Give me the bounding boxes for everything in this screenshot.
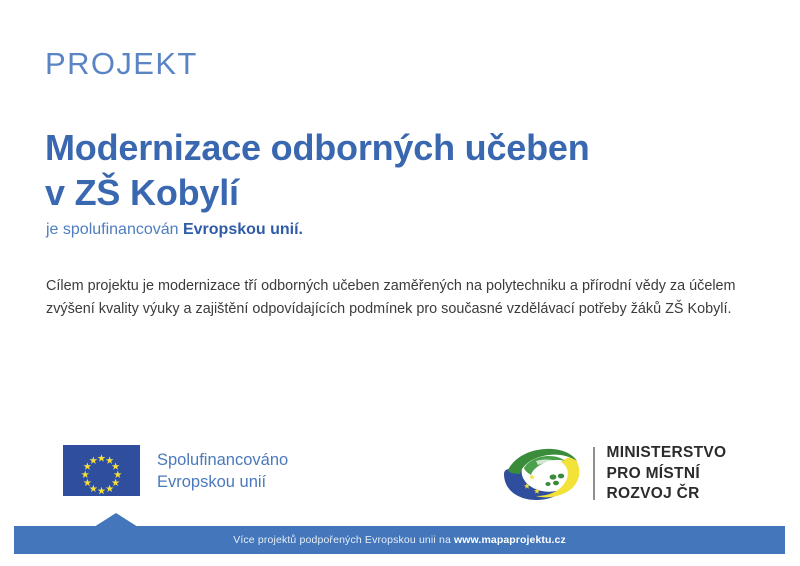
- ministry-logo-lockup: MINISTERSTVO PRO MÍSTNÍ ROZVOJ ČR: [498, 443, 726, 505]
- subtitle: je spolufinancován Evropskou unií.: [46, 219, 303, 241]
- footer-url-link[interactable]: www.mapaprojektu.cz: [454, 534, 566, 546]
- eyebrow-label: PROJEKT: [45, 48, 198, 81]
- page-title: Modernizace odborných učeben v ZŠ Kobylí: [45, 125, 590, 215]
- european-union-flag-icon: [63, 445, 140, 496]
- footer-band: Více projektů podpořených Evropskou unii…: [14, 513, 785, 555]
- ministry-logo-caption: MINISTERSTVO PRO MÍSTNÍ ROZVOJ ČR: [607, 443, 727, 505]
- subtitle-prefix: je spolufinancován: [46, 221, 183, 238]
- subtitle-emphasis: Evropskou unií.: [183, 221, 303, 238]
- body-paragraph: Cílem projektu je modernizace tří odborn…: [46, 275, 736, 321]
- poster-canvas: PROJEKT Modernizace odborných učeben v Z…: [0, 0, 800, 566]
- footer-bar: Více projektů podpořených Evropskou unii…: [14, 526, 785, 554]
- footer-arrow-icon: [94, 513, 138, 527]
- eu-logo-caption: Spolufinancováno Evropskou unií: [157, 449, 288, 493]
- footer-text-prefix: Více projektů podpořených Evropskou unii…: [233, 534, 454, 546]
- ministry-swirl-mark-icon: [498, 446, 584, 502]
- ministry-logo-divider: [593, 447, 595, 500]
- eu-logo-lockup: Spolufinancováno Evropskou unií: [63, 445, 288, 496]
- footer-text: Více projektů podpořených Evropskou unii…: [233, 534, 566, 546]
